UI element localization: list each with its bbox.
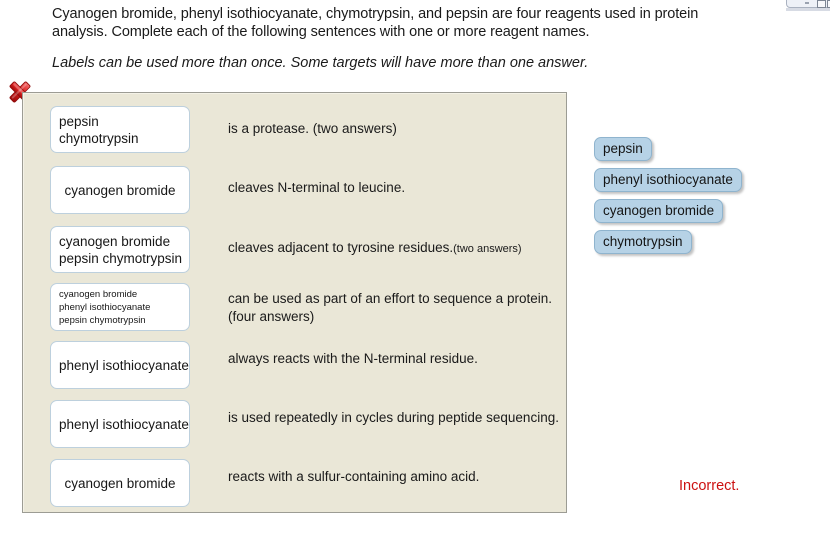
answer-text: pepsin: [59, 113, 181, 130]
answer-text: cyanogen bromide: [59, 233, 181, 250]
draggable-label-chymotrypsin[interactable]: chymotrypsin: [594, 230, 692, 254]
sentence-2: cleaves N-terminal to leucine.: [228, 179, 573, 197]
draggable-label-pepsin[interactable]: pepsin: [594, 137, 652, 161]
sentence-text: can be used as part of an effort to sequ…: [228, 291, 552, 324]
note-paragraph: Labels can be used more than once. Some …: [52, 54, 588, 72]
answer-text: cyanogen bromide: [59, 288, 181, 301]
drop-target-3[interactable]: cyanogen bromide pepsin chymotrypsin: [50, 226, 190, 273]
sentence-4: can be used as part of an effort to sequ…: [228, 290, 573, 325]
sentence-5: always reacts with the N-terminal residu…: [228, 350, 573, 368]
sentence-3: cleaves adjacent to tyrosine residues.(t…: [228, 239, 573, 259]
answer-text: phenyl isothiocyanate: [59, 301, 181, 314]
matching-panel: pepsin chymotrypsin is a protease. (two …: [22, 92, 567, 513]
sentence-1: is a protease. (two answers): [228, 120, 573, 138]
sentence-text: cleaves adjacent to tyrosine residues.: [228, 240, 453, 255]
sentence-note: (two answers): [309, 121, 397, 136]
answer-text: cyanogen bromide: [59, 475, 181, 492]
drop-target-7[interactable]: cyanogen bromide: [50, 459, 190, 507]
sentence-note: (two answers): [453, 243, 521, 255]
draggable-label-cyanogen-bromide[interactable]: cyanogen bromide: [594, 199, 723, 223]
sentence-7: reacts with a sulfur-containing amino ac…: [228, 468, 573, 486]
sentence-text: cleaves N-terminal to leucine.: [228, 180, 405, 195]
answer-text: phenyl isothiocyanate: [59, 357, 181, 374]
answer-text: phenyl isothiocyanate: [59, 416, 181, 433]
bank-row: cyanogen bromide: [594, 199, 742, 230]
answer-text: pepsin chymotrypsin: [59, 250, 181, 267]
sentence-text: reacts with a sulfur-containing amino ac…: [228, 469, 479, 484]
bank-row: pepsin: [594, 137, 742, 168]
label-bank: pepsin phenyl isothiocyanate cyanogen br…: [594, 137, 742, 261]
sentence-text: is used repeatedly in cycles during pept…: [228, 410, 559, 425]
answer-text: cyanogen bromide: [59, 182, 181, 199]
answer-text: pepsin chymotrypsin: [59, 314, 181, 327]
instructions-block: Cyanogen bromide, phenyl isothiocyanate,…: [52, 5, 752, 41]
drop-target-5[interactable]: phenyl isothiocyanate: [50, 341, 190, 389]
drop-target-1[interactable]: pepsin chymotrypsin: [50, 106, 190, 153]
drop-target-6[interactable]: phenyl isothiocyanate: [50, 400, 190, 448]
intro-paragraph: Cyanogen bromide, phenyl isothiocyanate,…: [52, 5, 752, 41]
answer-text: chymotrypsin: [59, 130, 181, 147]
bank-row: chymotrypsin: [594, 230, 742, 261]
toolbar-dot-icon: [805, 2, 809, 4]
sentence-6: is used repeatedly in cycles during pept…: [228, 409, 573, 427]
partial-toolbar-top-right[interactable]: [786, 0, 830, 8]
drop-target-4[interactable]: cyanogen bromide phenyl isothiocyanate p…: [50, 283, 190, 331]
toolbar-fragment-shadow: [786, 8, 830, 11]
drop-target-2[interactable]: cyanogen bromide: [50, 166, 190, 214]
bank-row: phenyl isothiocyanate: [594, 168, 742, 199]
sentence-text: always reacts with the N-terminal residu…: [228, 351, 478, 366]
feedback-message: Incorrect.: [679, 478, 739, 494]
toolbar-mini-button-1[interactable]: [817, 0, 826, 8]
sentence-text: is a protease.: [228, 121, 309, 136]
draggable-label-phenyl-isothiocyanate[interactable]: phenyl isothiocyanate: [594, 168, 742, 192]
